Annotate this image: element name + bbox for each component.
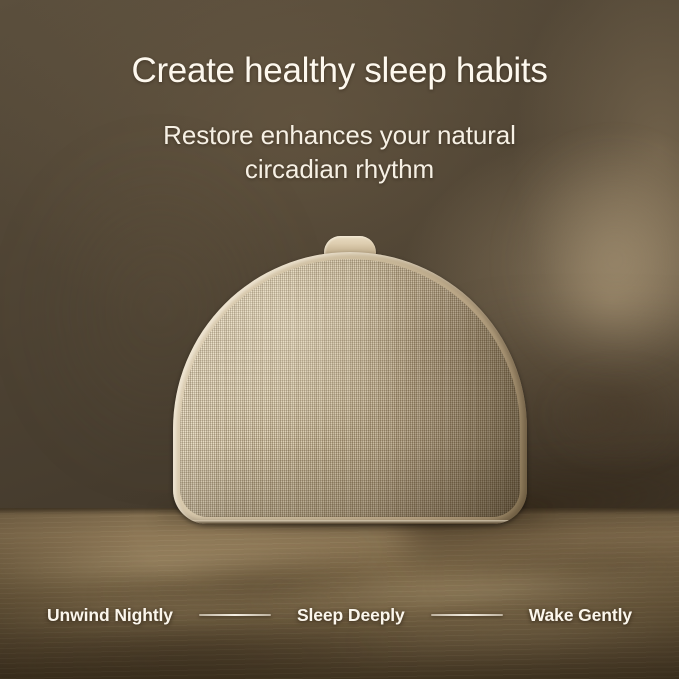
device-body [173,252,527,524]
product-hero-scene: Create healthy sleep habits Restore enha… [0,0,679,679]
page-subtitle-line-1: Restore enhances your natural [0,118,679,152]
caption-divider-1 [199,614,271,616]
caption-unwind-nightly: Unwind Nightly [47,605,173,626]
device-base-edge [183,520,517,524]
caption-divider-2 [431,614,503,616]
page-title: Create healthy sleep habits [0,51,679,91]
product-device [173,252,527,524]
device-fabric-panel [180,259,520,517]
wall-shadow-blob [560,380,679,450]
page-subtitle-line-2: circadian rhythm [0,152,679,186]
caption-sleep-deeply: Sleep Deeply [297,605,405,626]
page-subtitle: Restore enhances your natural circadian … [0,118,679,187]
feature-caption-strip: Unwind Nightly Sleep Deeply Wake Gently [0,600,679,630]
caption-wake-gently: Wake Gently [529,605,632,626]
fabric-shading [180,259,520,517]
